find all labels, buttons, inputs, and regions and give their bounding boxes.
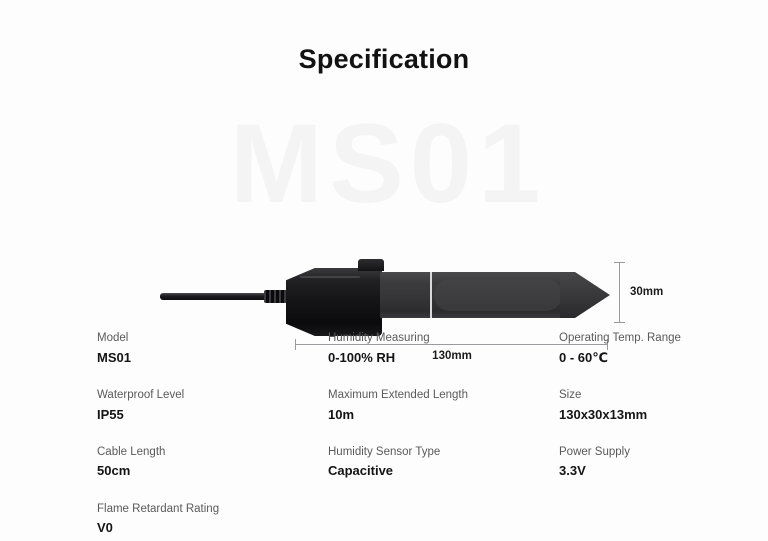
spec-value: 0-100% RH [328, 349, 559, 367]
spec-item-cable-length: Cable Length 50cm [97, 444, 328, 481]
page-title: Specification [0, 44, 768, 75]
spec-label: Maximum Extended Length [328, 387, 559, 404]
spec-value: 130x30x13mm [559, 406, 717, 424]
spec-column-1: Model MS01 Waterproof Level IP55 Cable L… [97, 330, 328, 541]
spec-item-size: Size 130x30x13mm [559, 387, 717, 424]
spec-item-maximum-extended-length: Maximum Extended Length 10m [328, 387, 559, 424]
sensor-blade-panel [434, 279, 562, 311]
spec-item-flame-retardant-rating: Flame Retardant Rating V0 [97, 501, 328, 538]
height-dimension-line [619, 262, 620, 322]
spec-column-3: Operating Temp. Range 0 - 60℃ Size 130x3… [559, 330, 717, 541]
spec-label: Flame Retardant Rating [97, 501, 328, 518]
sensor-cable [160, 293, 272, 300]
spec-item-humidity-measuring: Humidity Measuring 0-100% RH [328, 330, 559, 367]
spec-label: Humidity Measuring [328, 330, 559, 347]
spec-item-waterproof-level: Waterproof Level IP55 [97, 387, 328, 424]
watermark-text: MS01 [188, 108, 588, 220]
spec-label: Humidity Sensor Type [328, 444, 559, 461]
spec-value: Capacitive [328, 462, 559, 480]
spec-item-humidity-sensor-type: Humidity Sensor Type Capacitive [328, 444, 559, 481]
spec-label: Power Supply [559, 444, 717, 461]
specification-page: Specification MS01 130mm 30mm Model MS01 [0, 0, 768, 541]
sensor-probe-tip [560, 272, 610, 318]
spec-value: MS01 [97, 349, 328, 367]
sensor-blade-divider [430, 272, 432, 318]
housing-brand-marking [370, 296, 379, 328]
spec-label: Waterproof Level [97, 387, 328, 404]
spec-value: 50cm [97, 462, 328, 480]
height-dimension-label: 30mm [630, 286, 663, 298]
product-figure: MS01 130mm 30mm [0, 100, 768, 290]
spec-value: IP55 [97, 406, 328, 424]
spec-item-model: Model MS01 [97, 330, 328, 367]
spec-column-2: Humidity Measuring 0-100% RH Maximum Ext… [328, 330, 559, 541]
height-dimension-cap-top [614, 262, 625, 263]
spec-label: Operating Temp. Range [559, 330, 717, 347]
spec-value: 3.3V [559, 462, 717, 480]
sensor-housing [286, 268, 382, 336]
spec-label: Model [97, 330, 328, 347]
spec-label: Cable Length [97, 444, 328, 461]
spec-item-operating-temp-range: Operating Temp. Range 0 - 60℃ [559, 330, 717, 367]
spec-item-power-supply: Power Supply 3.3V [559, 444, 717, 481]
housing-top-tab [358, 259, 384, 271]
spec-value: 0 - 60℃ [559, 349, 717, 367]
housing-seam-line [300, 276, 360, 278]
height-dimension-cap-bottom [614, 322, 625, 323]
spec-label: Size [559, 387, 717, 404]
spec-value: V0 [97, 519, 328, 537]
spec-value: 10m [328, 406, 559, 424]
specification-grid: Model MS01 Waterproof Level IP55 Cable L… [97, 330, 717, 541]
